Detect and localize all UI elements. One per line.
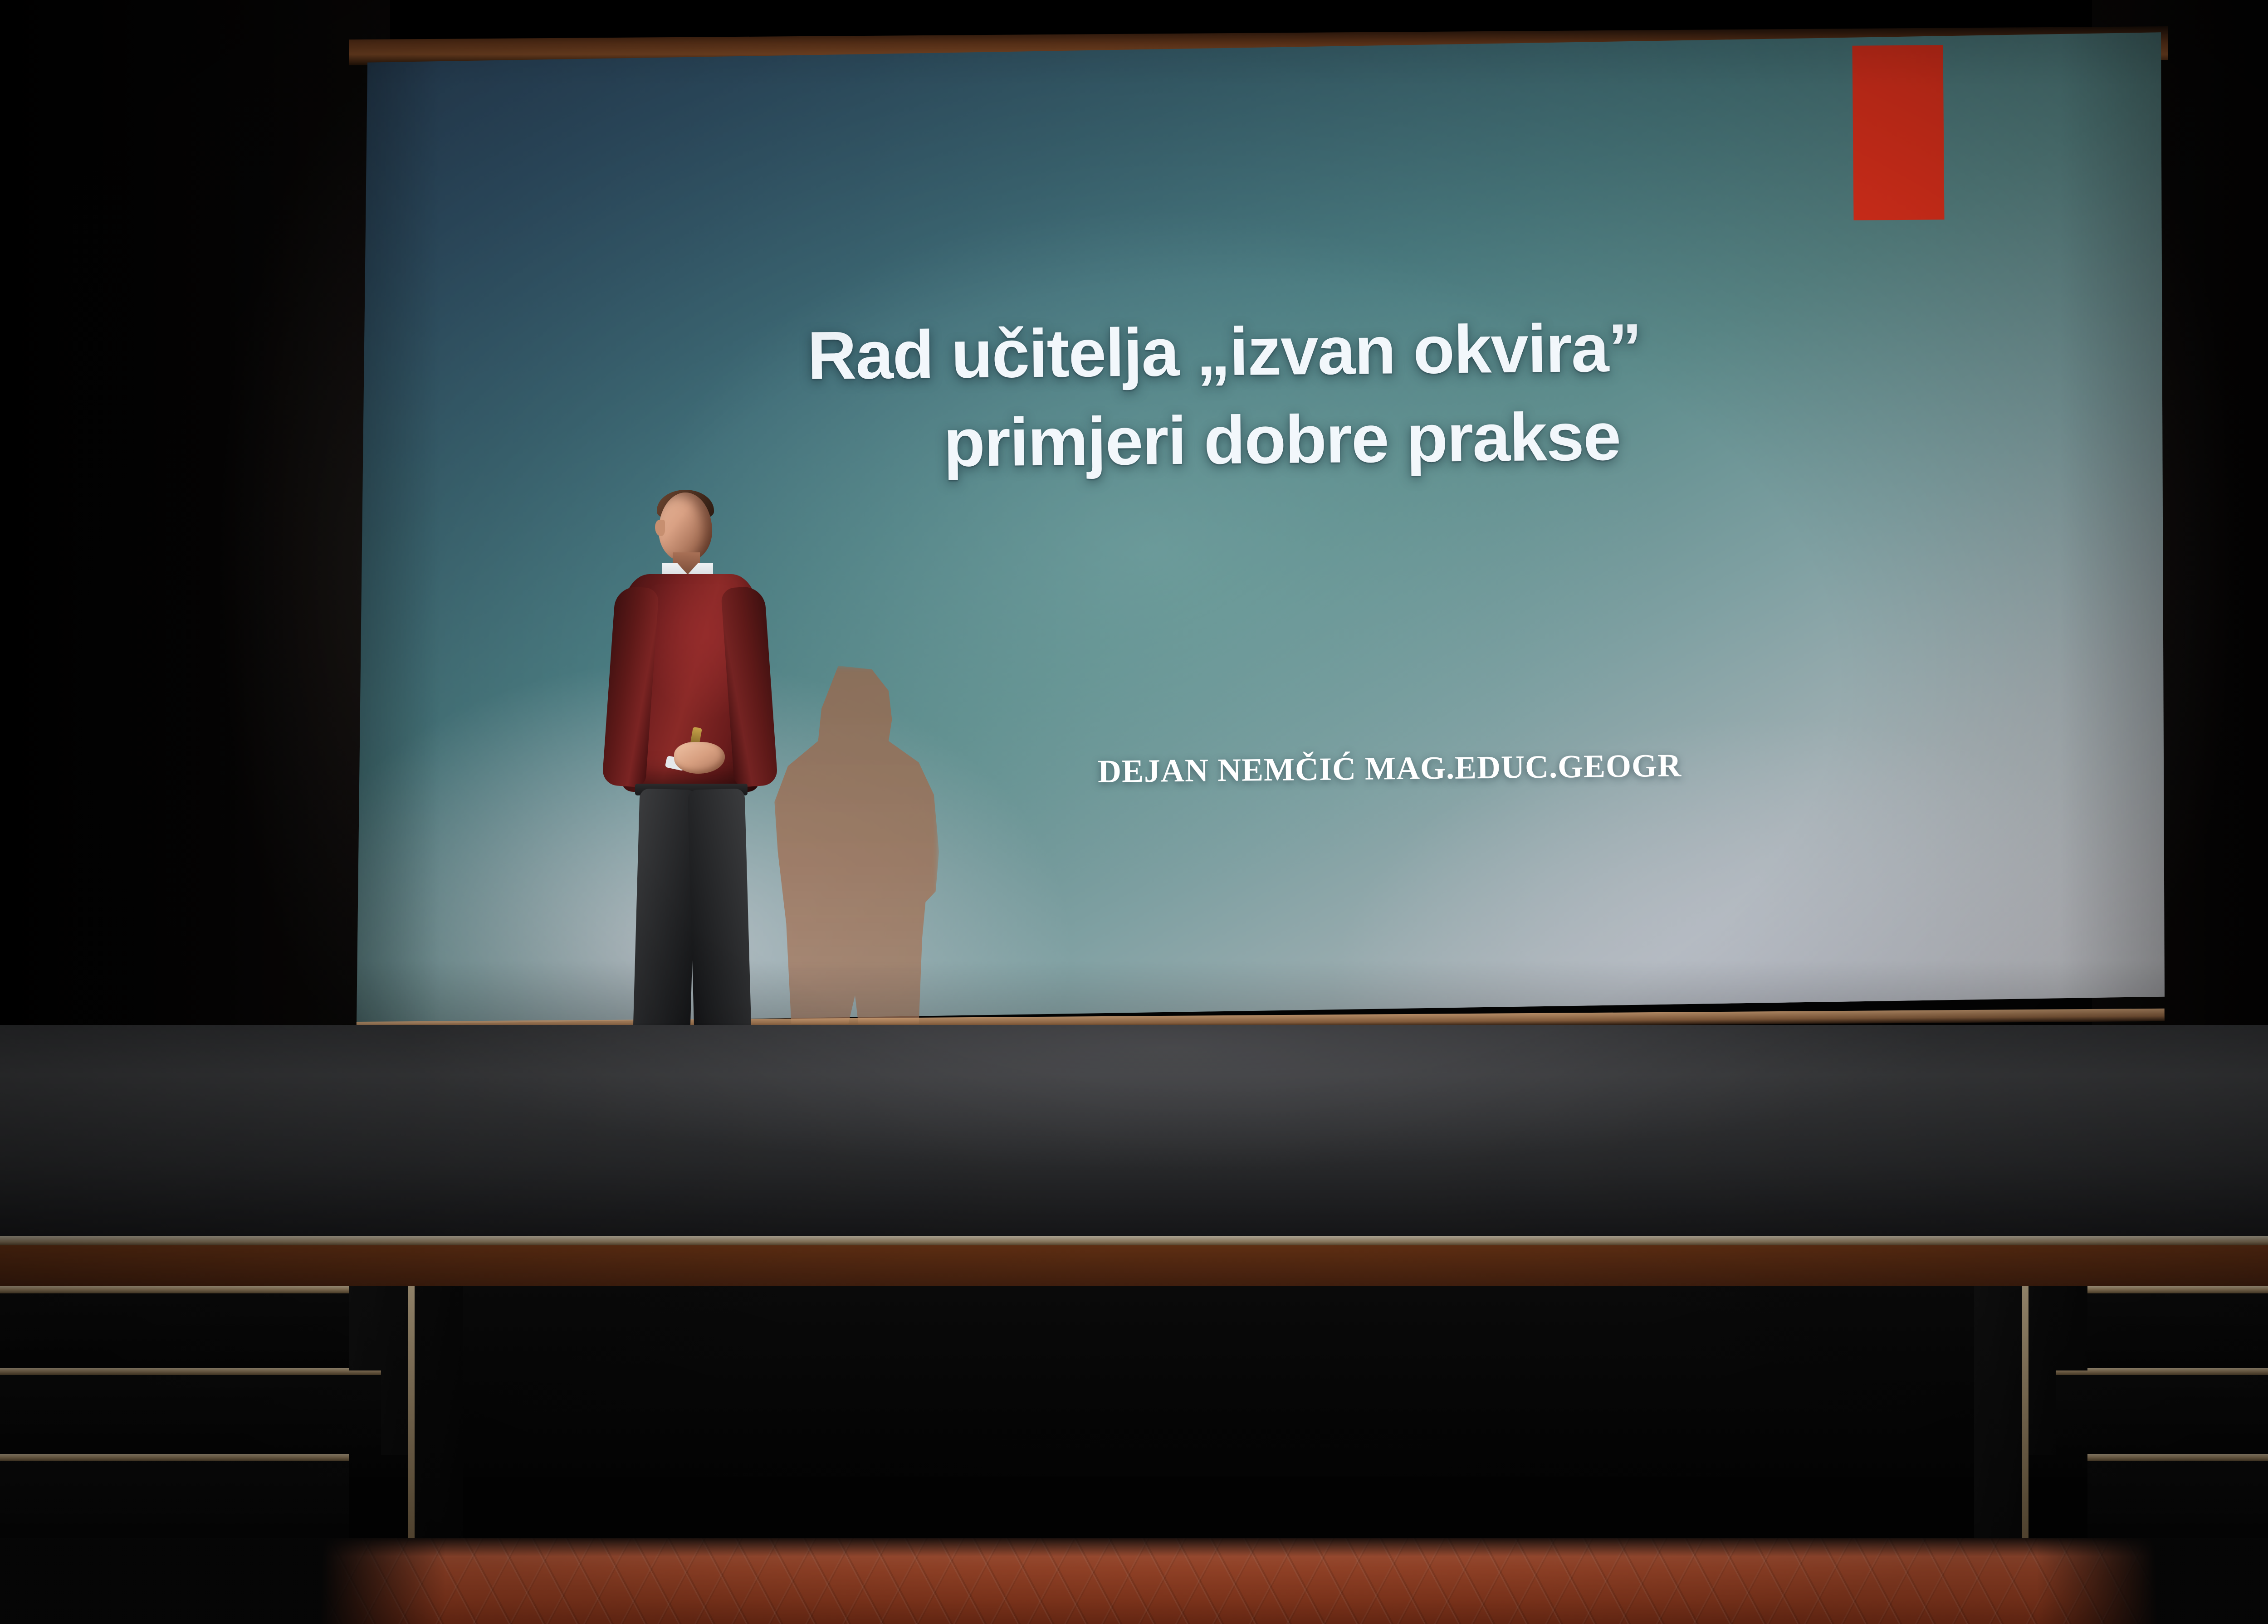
slide-accent-rectangle [1852,45,1944,220]
stage-front-edge [0,1236,2268,1246]
stair-riser-2 [0,1368,399,1454]
stage-floor [0,1025,2268,1252]
stair-riser-3 [2087,1454,2268,1545]
stair-side-edge [2022,1286,2028,1558]
stair-riser-3 [0,1454,349,1545]
stage-photograph: Rad učitelja „izvan okvira” primjeri dob… [0,0,2268,1624]
stair-tread-3 [2087,1454,2268,1461]
stair-tread-3 [0,1454,349,1461]
house-floor-mask-left [0,1538,445,1624]
stair-riser-2 [2038,1368,2268,1454]
slide-title-line-2: primjeri dobre prakse [499,389,1951,492]
stair-side-edge [408,1286,415,1558]
stair-tread-2 [0,1368,399,1375]
house-floor-mask-right [2038,1538,2268,1624]
slide-title: Rad učitelja „izvan okvira” primjeri dob… [498,301,1951,492]
slide-title-line-1: Rad učitelja „izvan okvira” [498,301,1950,403]
presenter-ear [655,520,665,536]
